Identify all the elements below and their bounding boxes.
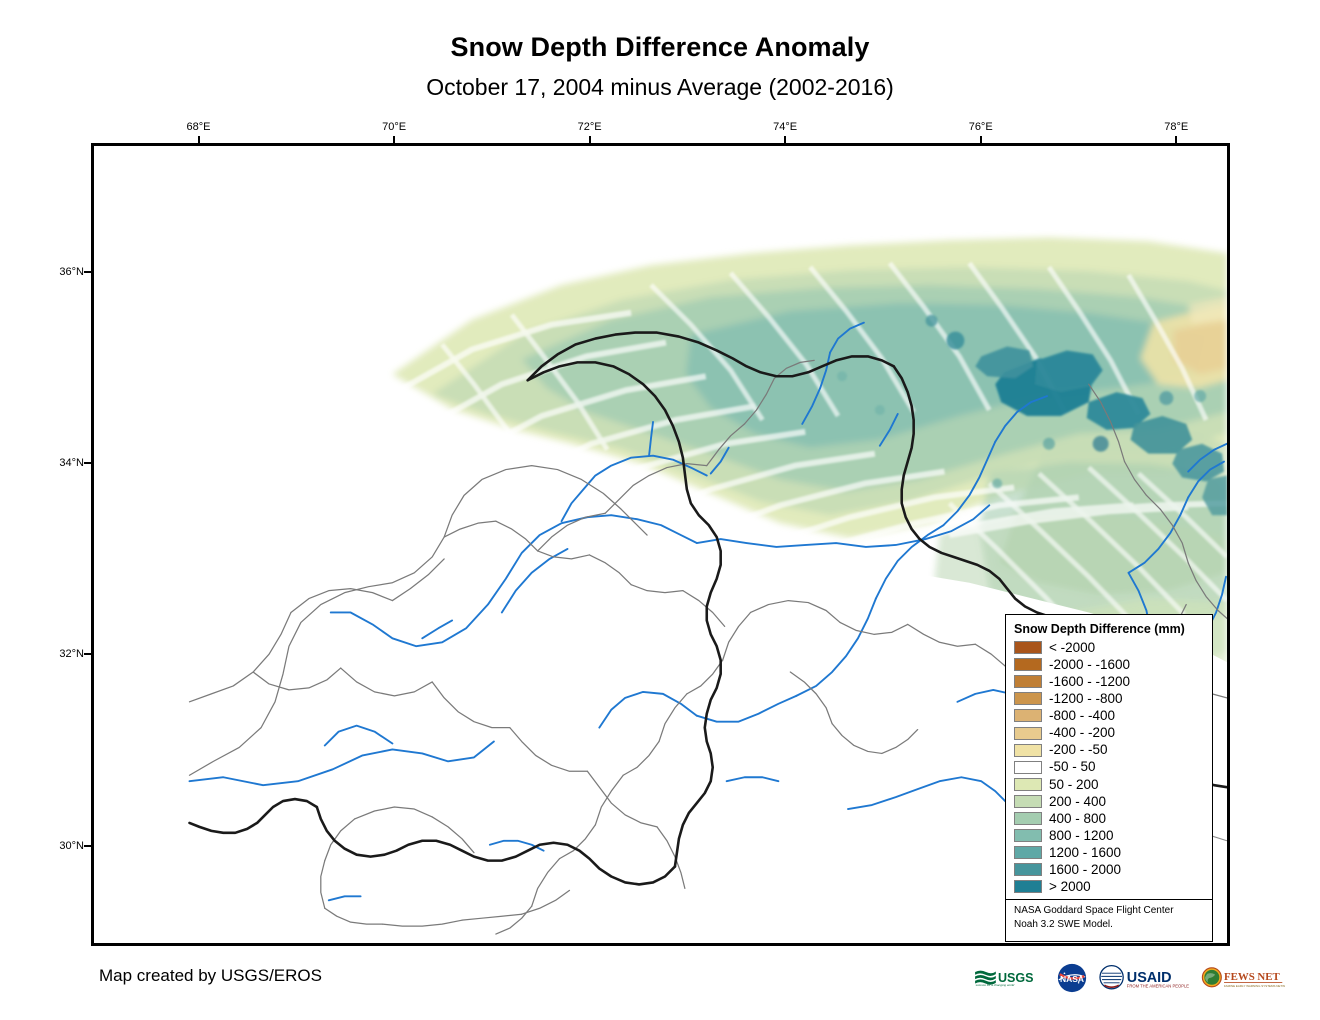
legend-swatch [1014,709,1042,722]
legend-label: 800 - 1200 [1049,829,1114,843]
legend-label: 200 - 400 [1049,795,1106,809]
page-title: Snow Depth Difference Anomaly [0,32,1320,63]
legend-swatch [1014,863,1042,876]
longitude-label: 74°E [773,121,797,133]
legend-row: 1200 - 1600 [1013,844,1205,861]
nasa-logo: NASA [1053,962,1091,994]
legend-label: < -2000 [1049,641,1095,655]
latitude-label: 30°N [40,840,84,852]
latitude-label: 36°N [40,266,84,278]
usgs-logo: USGS science for a changing world [974,962,1046,994]
legend-row: 50 - 200 [1013,776,1205,793]
usaid-logo: USAID FROM THE AMERICAN PEOPLE [1098,962,1194,994]
legend-note-line2: Noah 3.2 SWE Model. [1014,918,1205,932]
legend-row: -1200 - -800 [1013,690,1205,707]
latitude-label: 34°N [40,457,84,469]
longitude-label: 76°E [969,121,993,133]
latitude-label: 32°N [40,648,84,660]
legend-row: > 2000 [1013,878,1205,895]
legend-title: Snow Depth Difference (mm) [1014,622,1205,636]
legend-row: 1600 - 2000 [1013,861,1205,878]
legend-row: -1600 - -1200 [1013,673,1205,690]
legend-label: -200 - -50 [1049,743,1108,757]
legend-label: -800 - -400 [1049,709,1115,723]
longitude-label: 78°E [1164,121,1188,133]
legend-divider [1006,899,1212,900]
svg-text:FROM THE AMERICAN PEOPLE: FROM THE AMERICAN PEOPLE [1127,984,1190,989]
legend-label: -1200 - -800 [1049,692,1123,706]
legend-row: -200 - -50 [1013,742,1205,759]
legend-swatch [1014,744,1042,757]
legend-label: -1600 - -1200 [1049,675,1130,689]
legend-row: 800 - 1200 [1013,827,1205,844]
legend-label: 50 - 200 [1049,778,1099,792]
legend-swatch [1014,658,1042,671]
legend-row: 200 - 400 [1013,793,1205,810]
legend-row: -2000 - -1600 [1013,656,1205,673]
longitude-label: 70°E [382,121,406,133]
legend-swatch [1014,761,1042,774]
legend-swatch [1014,692,1042,705]
legend-swatch [1014,778,1042,791]
legend-row: -50 - 50 [1013,759,1205,776]
legend-swatch [1014,846,1042,859]
map-legend[interactable]: Snow Depth Difference (mm) < -2000-2000 … [1005,614,1213,942]
longitude-label: 72°E [578,121,602,133]
svg-text:FEWS NET: FEWS NET [1224,971,1280,983]
legend-label: -400 - -200 [1049,726,1115,740]
legend-label: 1200 - 1600 [1049,846,1121,860]
legend-label: -50 - 50 [1049,760,1096,774]
map-credit: Map created by USGS/EROS [99,966,322,986]
legend-swatch [1014,880,1042,893]
legend-label: 1600 - 2000 [1049,863,1121,877]
legend-label: -2000 - -1600 [1049,658,1130,672]
legend-swatch [1014,675,1042,688]
legend-swatch [1014,795,1042,808]
legend-swatch [1014,727,1042,740]
legend-swatch [1014,641,1042,654]
svg-text:science for a changing world: science for a changing world [976,983,1015,987]
legend-row: -800 - -400 [1013,707,1205,724]
svg-text:NASA: NASA [1060,974,1084,984]
legend-label: 400 - 800 [1049,812,1106,826]
legend-swatch [1014,812,1042,825]
legend-row: < -2000 [1013,639,1205,656]
legend-note-line1: NASA Goddard Space Flight Center [1014,904,1205,918]
legend-row: 400 - 800 [1013,810,1205,827]
legend-row: -400 - -200 [1013,724,1205,741]
legend-label: > 2000 [1049,880,1091,894]
map-page: Snow Depth Difference Anomaly October 17… [0,0,1320,1020]
legend-class-list: < -2000-2000 - -1600-1600 - -1200-1200 -… [1013,639,1205,895]
logo-bar: USGS science for a changing world NASA U… [974,961,1285,995]
legend-swatch [1014,829,1042,842]
longitude-label: 68°E [187,121,211,133]
fewsnet-logo: FEWS NET FAMINE EARLY WARNING SYSTEMS NE… [1201,962,1285,994]
svg-text:FAMINE EARLY WARNING SYSTEMS N: FAMINE EARLY WARNING SYSTEMS NETWORK [1224,984,1285,988]
page-subtitle: October 17, 2004 minus Average (2002-201… [0,74,1320,101]
